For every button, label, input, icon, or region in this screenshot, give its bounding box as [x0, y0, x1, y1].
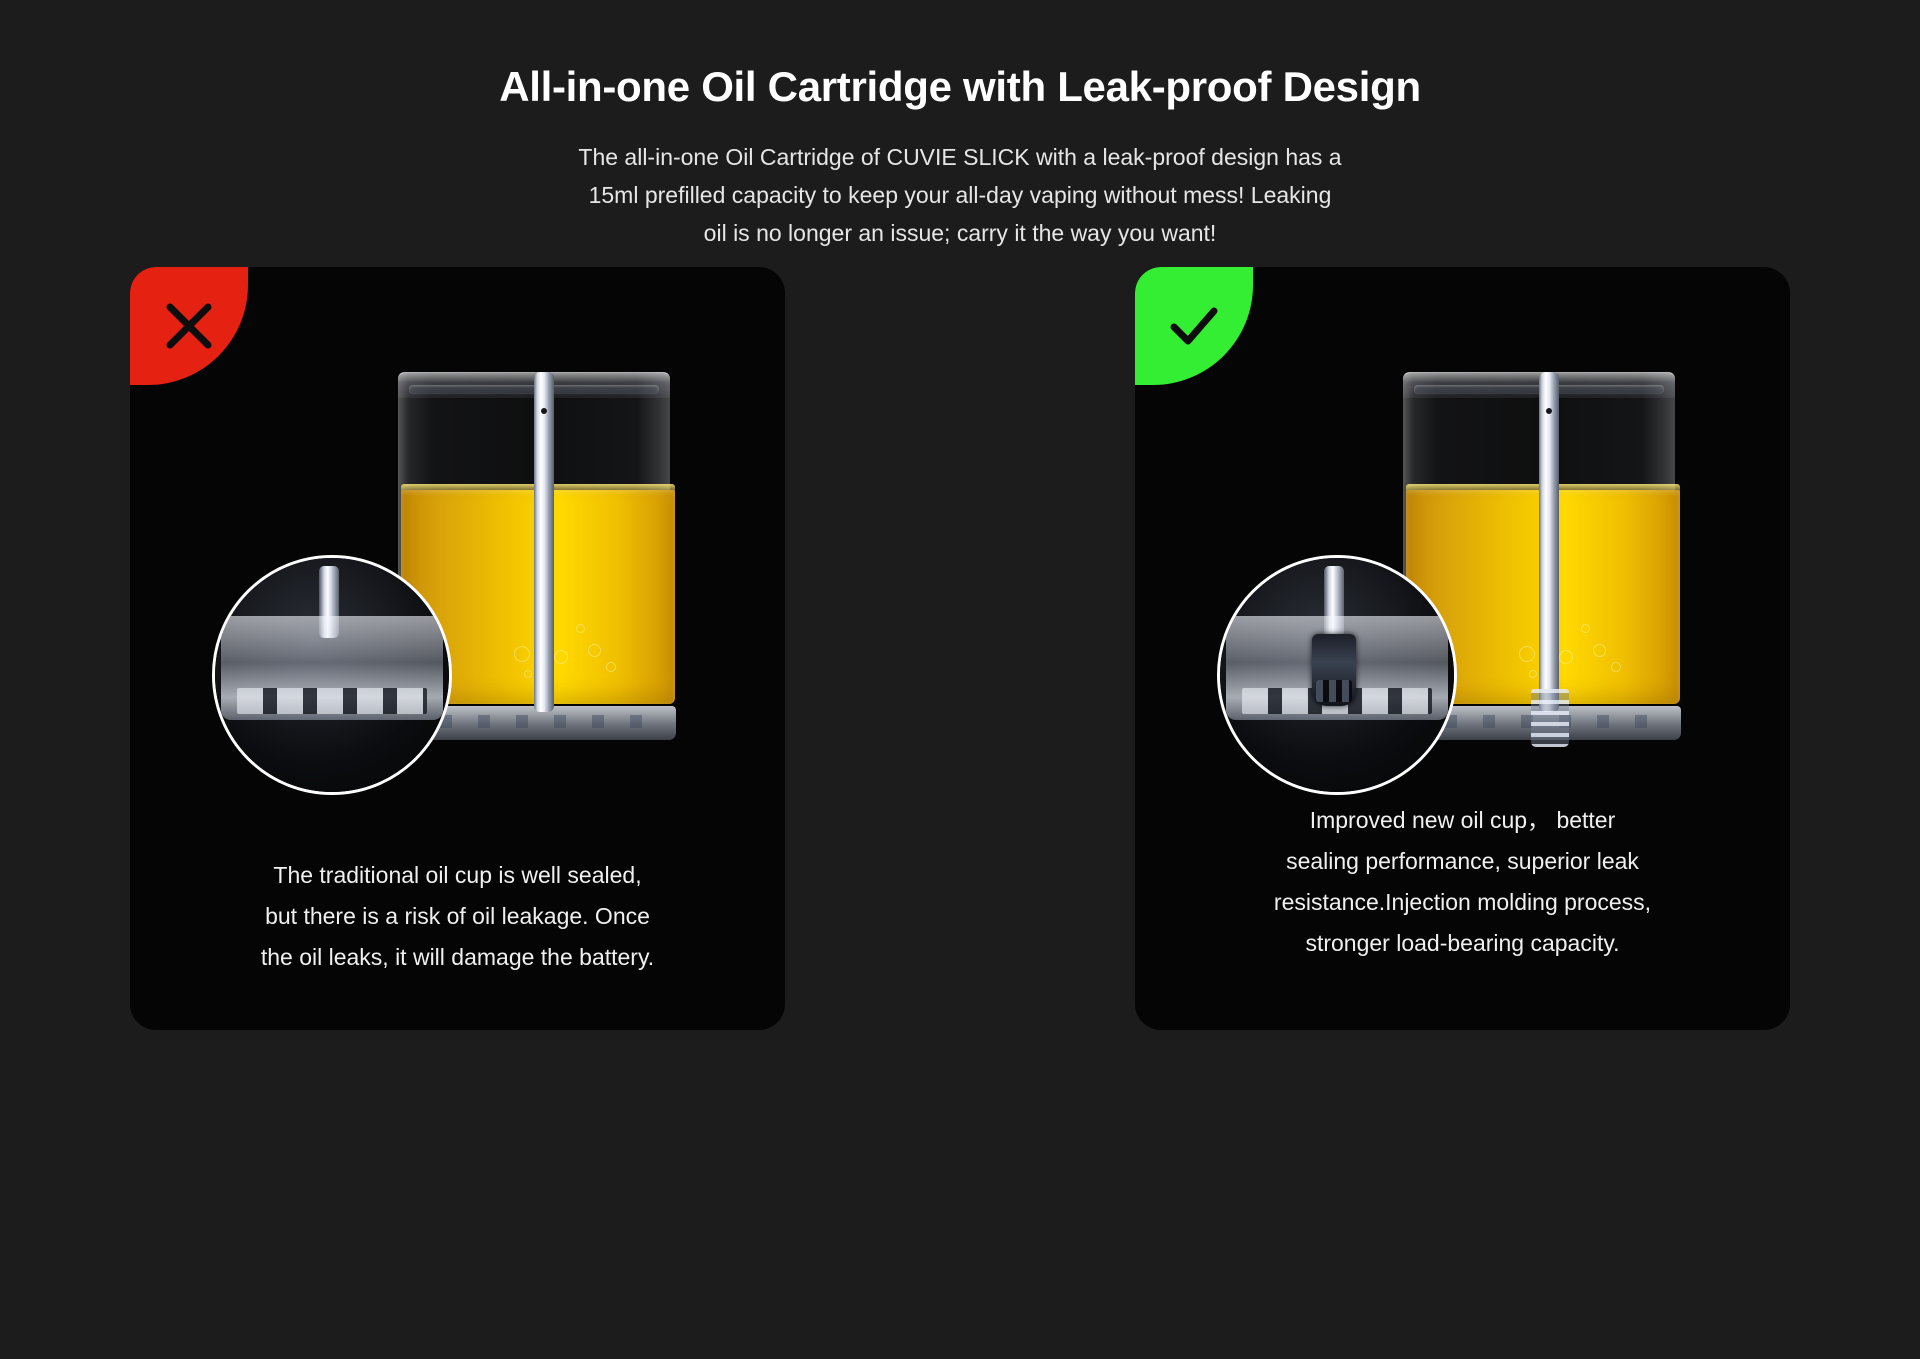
page-title: All-in-one Oil Cartridge with Leak-proof… [0, 62, 1920, 112]
threaded-connector [1531, 689, 1569, 747]
caption-line: stronger load-bearing capacity. [1169, 923, 1756, 964]
caption-line: the oil leaks, it will damage the batter… [164, 937, 751, 978]
magnified-sealing-valve [1312, 634, 1356, 706]
caption-line: Improved new oil cup， better [1169, 800, 1756, 841]
oil-bubbles [510, 616, 630, 688]
caption-line: The traditional oil cup is well sealed, [164, 855, 751, 896]
magnified-sealed-cup [221, 616, 443, 720]
caption-line: resistance.Injection molding process, [1169, 882, 1756, 923]
comparison-cards: The traditional oil cup is well sealed, … [130, 267, 1790, 1030]
subtitle-line: The all-in-one Oil Cartridge of CUVIE SL… [0, 138, 1920, 176]
center-tube [1539, 372, 1559, 712]
card-caption: Improved new oil cup， better sealing per… [1135, 800, 1790, 1016]
magnifier-content [215, 558, 449, 792]
subtitle-line: oil is no longer an issue; carry it the … [0, 214, 1920, 252]
oil-bubbles [1515, 616, 1635, 688]
header: All-in-one Oil Cartridge with Leak-proof… [0, 0, 1920, 252]
card-traditional-oil-cup: The traditional oil cup is well sealed, … [130, 267, 785, 1030]
check-icon [1166, 298, 1222, 354]
cross-icon [162, 299, 216, 353]
page-subtitle: The all-in-one Oil Cartridge of CUVIE SL… [0, 138, 1920, 252]
magnifier-sealed-cup [212, 555, 452, 795]
product-feature-panel: All-in-one Oil Cartridge with Leak-proof… [0, 0, 1920, 1359]
card-improved-oil-cup: Improved new oil cup， better sealing per… [1135, 267, 1790, 1030]
caption-line: but there is a risk of oil leakage. Once [164, 896, 751, 937]
tube-airhole [541, 408, 547, 414]
tube-airhole [1546, 408, 1552, 414]
magnifier-improved-cup [1217, 555, 1457, 795]
center-tube [534, 372, 554, 712]
caption-line: sealing performance, superior leak [1169, 841, 1756, 882]
magnifier-content [1220, 558, 1454, 792]
card-caption: The traditional oil cup is well sealed, … [130, 855, 785, 1030]
subtitle-line: 15ml prefilled capacity to keep your all… [0, 176, 1920, 214]
